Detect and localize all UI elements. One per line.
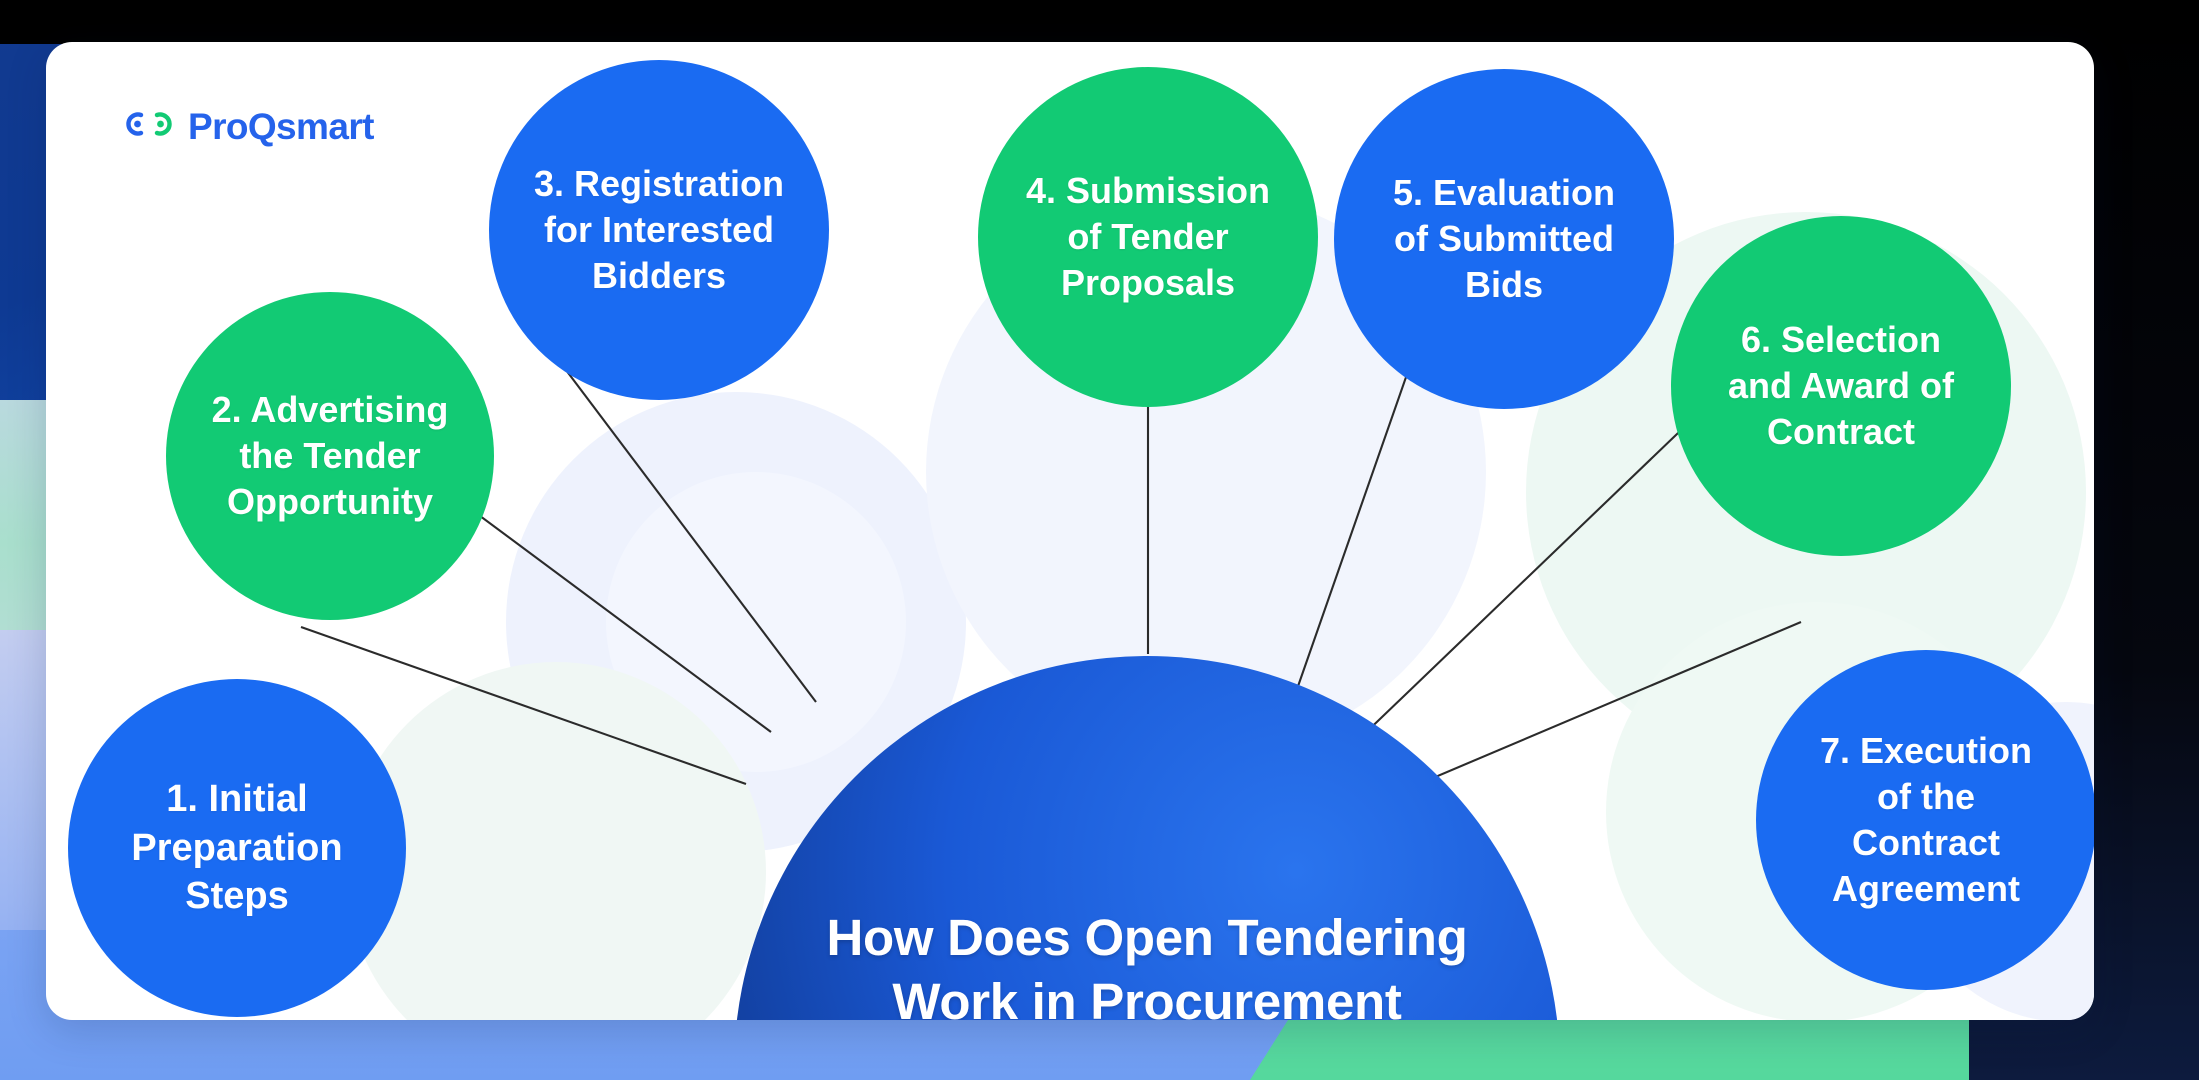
proqsmart-infinity-icon [124, 109, 174, 144]
background-black-top-strip [0, 0, 2199, 44]
step-node-6-line-1: 6. Selection [1728, 317, 1954, 363]
step-node-3-label: 3. Registration for Interested Bidders [534, 161, 784, 299]
step-node-3-line-2: for Interested [534, 207, 784, 253]
step-node-4-label: 4. Submission of Tender Proposals [1026, 168, 1270, 306]
step-node-1-line-1: 1. Initial [131, 775, 342, 824]
hub-title-line-1: How Does Open Tendering [777, 906, 1517, 970]
infographic-card: ProQsmart How Does Open Tendering Work i… [46, 42, 2094, 1020]
step-node-3[interactable]: 3. Registration for Interested Bidders [489, 60, 829, 400]
brand-logo[interactable]: ProQsmart [124, 108, 374, 145]
connector-line-6 [1356, 387, 1726, 742]
step-node-5-line-3: Bids [1393, 262, 1615, 308]
step-node-6[interactable]: 6. Selection and Award of Contract [1671, 216, 2011, 556]
step-node-5-line-2: of Submitted [1393, 216, 1615, 262]
step-node-3-line-1: 3. Registration [534, 161, 784, 207]
step-node-4[interactable]: 4. Submission of Tender Proposals [978, 67, 1318, 407]
step-node-2[interactable]: 2. Advertising the Tender Opportunity [166, 292, 494, 620]
step-node-1-line-3: Steps [131, 872, 342, 921]
step-node-6-label: 6. Selection and Award of Contract [1728, 317, 1954, 455]
step-node-1[interactable]: 1. Initial Preparation Steps [68, 679, 406, 1017]
step-node-3-line-3: Bidders [534, 253, 784, 299]
hub-title: How Does Open Tendering Work in Procurem… [777, 906, 1517, 1020]
step-node-2-line-2: the Tender [212, 433, 449, 479]
hub-title-line-2: Work in Procurement [777, 970, 1517, 1020]
brand-name: ProQsmart [188, 108, 374, 145]
step-node-2-label: 2. Advertising the Tender Opportunity [212, 387, 449, 525]
step-node-6-line-2: and Award of [1728, 363, 1954, 409]
step-node-7-line-1: 7. Execution [1820, 728, 2032, 774]
step-node-7[interactable]: 7. Execution of the Contract Agreement [1756, 650, 2094, 990]
step-node-7-line-3: Contract [1820, 820, 2032, 866]
step-node-6-line-3: Contract [1728, 409, 1954, 455]
step-node-7-label: 7. Execution of the Contract Agreement [1820, 728, 2032, 912]
step-node-2-line-3: Opportunity [212, 479, 449, 525]
step-node-1-label: 1. Initial Preparation Steps [131, 775, 342, 921]
connector-line-7 [1381, 622, 1801, 800]
step-node-4-line-3: Proposals [1026, 260, 1270, 306]
step-node-5-line-1: 5. Evaluation [1393, 170, 1615, 216]
step-node-4-line-2: of Tender [1026, 214, 1270, 260]
step-node-1-line-2: Preparation [131, 824, 342, 873]
step-node-7-line-2: of the [1820, 774, 2032, 820]
step-node-4-line-1: 4. Submission [1026, 168, 1270, 214]
step-node-5-label: 5. Evaluation of Submitted Bids [1393, 170, 1615, 308]
step-node-5[interactable]: 5. Evaluation of Submitted Bids [1334, 69, 1674, 409]
step-node-2-line-1: 2. Advertising [212, 387, 449, 433]
step-node-7-line-4: Agreement [1820, 866, 2032, 912]
